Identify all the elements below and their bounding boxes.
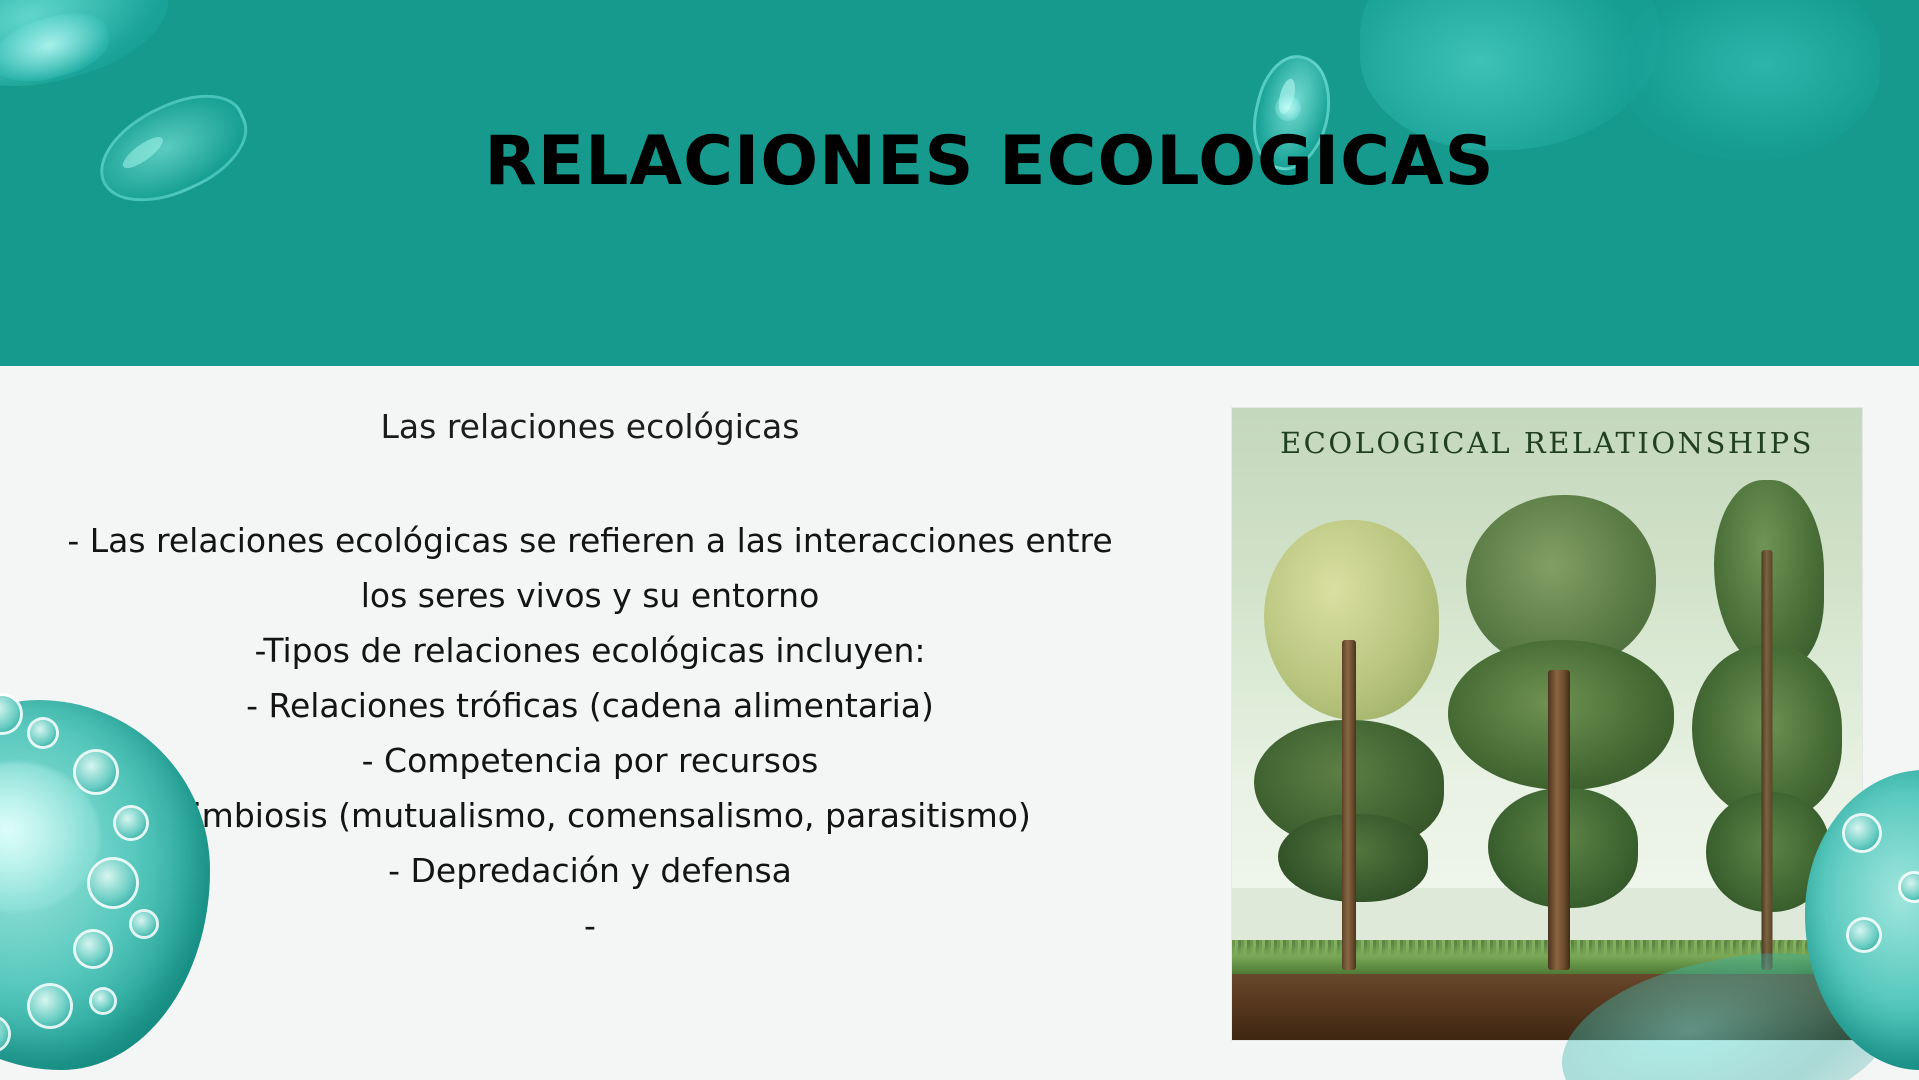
soil-layer [1232, 970, 1862, 1040]
presentation-slide: RELACIONES ECOLOGICAS Las relaciones eco… [0, 0, 1919, 1080]
tree-illustration-right [1684, 470, 1849, 970]
content-line: - Las relaciones ecológicas se refieren … [0, 513, 1180, 568]
trunk-icon [1548, 670, 1570, 970]
content-line: - [0, 898, 1180, 953]
tree-illustration-center [1444, 450, 1674, 970]
tree-illustration-left [1254, 480, 1444, 970]
decorative-blob-icon [0, 0, 183, 113]
decorative-dot-icon [1275, 95, 1301, 121]
slide-title: RELACIONES ECOLOGICAS [0, 128, 1919, 196]
content-line: - Depredación y defensa [0, 843, 1180, 898]
content-line: -Tipos de relaciones ecológicas incluyen… [0, 623, 1180, 678]
ecological-relationships-image: ECOLOGICAL RELATIONSHIPS [1232, 408, 1862, 1040]
header-band: RELACIONES ECOLOGICAS [0, 0, 1919, 366]
vacuole-icon [0, 1018, 8, 1050]
content-subheading: Las relaciones ecológicas [0, 408, 1180, 448]
vacuole-icon [92, 990, 114, 1012]
trunk-icon [1342, 640, 1356, 970]
vacuole-icon [1901, 874, 1919, 900]
content-body: - Las relaciones ecológicas se refieren … [0, 513, 1180, 953]
content-line: - Relaciones tróficas (cadena alimentari… [0, 678, 1180, 733]
trunk-icon [1761, 550, 1772, 970]
vacuole-icon [30, 986, 70, 1026]
content-line: - Simbiosis (mutualismo, comensalismo, p… [0, 788, 1180, 843]
decorative-blob-icon [0, 3, 116, 92]
content-line: - Competencia por recursos [0, 733, 1180, 788]
content-line: los seres vivos y su entorno [0, 568, 1180, 623]
